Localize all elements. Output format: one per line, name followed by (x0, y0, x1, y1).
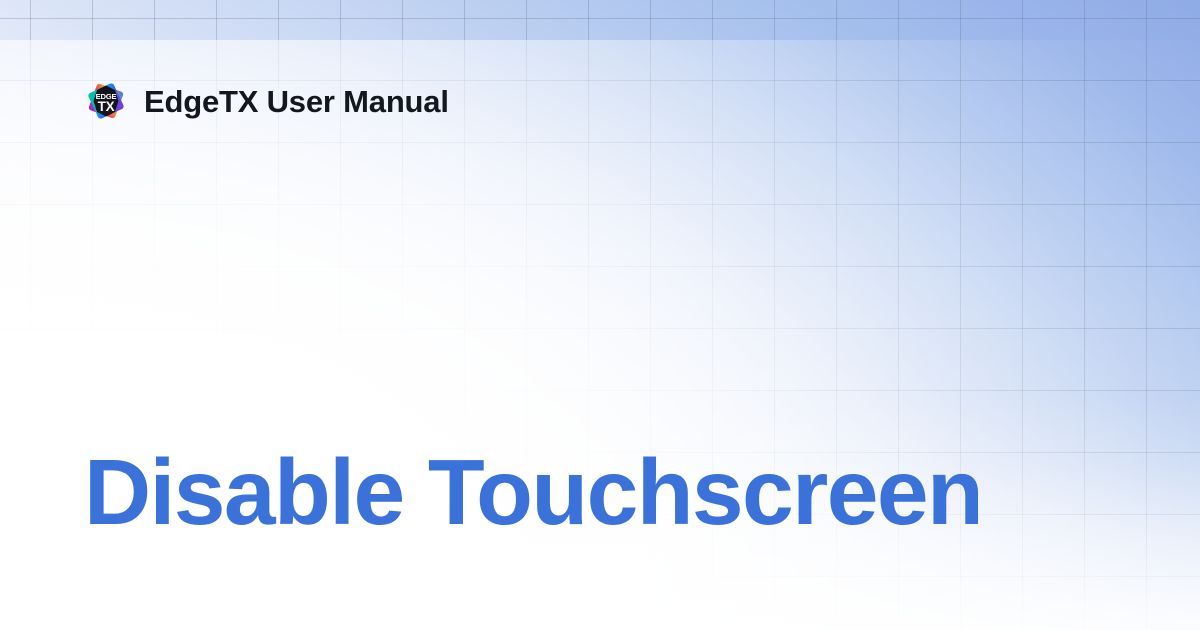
header-title: EdgeTX User Manual (144, 86, 449, 117)
edgetx-logo-icon: EDGE TX (84, 79, 128, 123)
og-card: EDGE TX EdgeTX User Manual Disable Touch… (0, 0, 1200, 630)
header: EDGE TX EdgeTX User Manual (84, 76, 449, 126)
page-title: Disable Touchscreen (84, 446, 982, 539)
svg-text:TX: TX (98, 99, 115, 114)
